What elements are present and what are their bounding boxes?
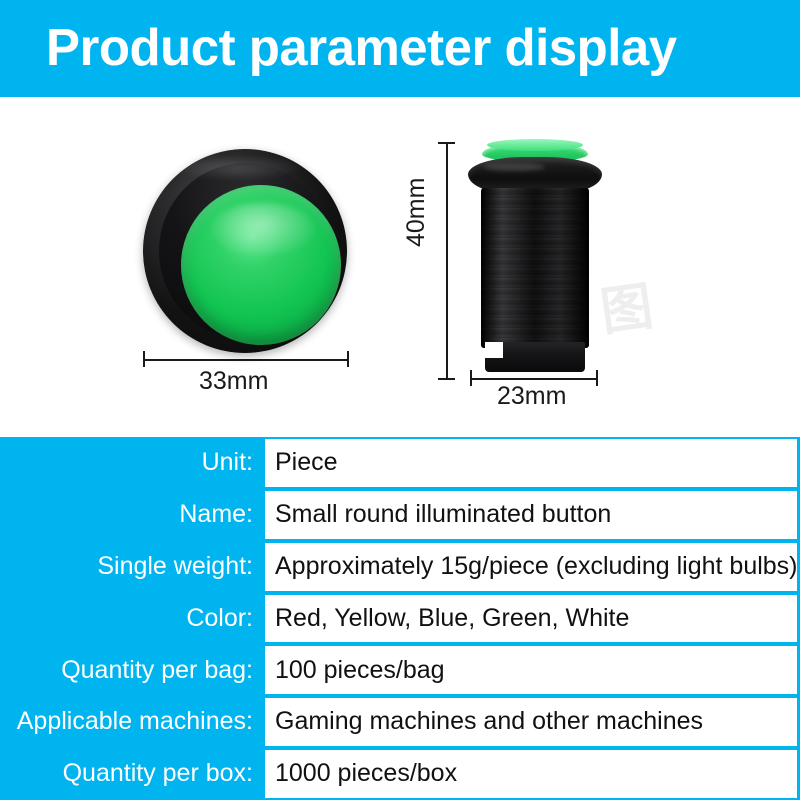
spec-label-quantity-per-box: Quantity per box: (0, 748, 265, 800)
dimension-label-40mm: 40mm (402, 178, 430, 247)
spec-value-color: Red, Yellow, Blue, Green, White (265, 595, 797, 643)
table-row: Applicable machines: Gaming machines and… (0, 696, 800, 748)
dimension-tick-left-23mm (470, 370, 472, 386)
side-view-flange-highlight (483, 163, 545, 171)
specification-table: Unit: Piece Name: Small round illuminate… (0, 437, 800, 800)
dimension-line-40mm (446, 142, 448, 378)
spec-value-quantity-per-bag: 100 pieces/bag (265, 646, 797, 694)
side-view-base-notch (485, 342, 503, 358)
dimension-tick-bottom-40mm (438, 378, 455, 380)
spec-value-quantity-per-box: 1000 pieces/box (265, 750, 797, 798)
spec-value-unit: Piece (265, 439, 797, 487)
table-row: Name: Small round illuminated button (0, 489, 800, 541)
button-bezel-inner (159, 163, 331, 339)
dimension-tick-top-40mm (438, 142, 455, 144)
dimension-line-33mm (143, 359, 349, 361)
spec-value-single-weight: Approximately 15g/piece (excluding light… (265, 543, 797, 591)
table-row: Quantity per bag: 100 pieces/bag (0, 644, 800, 696)
side-view-cap-top (487, 139, 583, 151)
product-photo-front-view (143, 149, 347, 353)
dimension-line-23mm (470, 378, 598, 380)
table-row: Quantity per box: 1000 pieces/box (0, 748, 800, 800)
lens-gloss-highlight (211, 203, 315, 255)
spec-label-color: Color: (0, 593, 265, 645)
bezel-highlight (171, 155, 303, 181)
header-banner: Product parameter display (0, 0, 800, 97)
table-row: Single weight: Approximately 15g/piece (… (0, 541, 800, 593)
side-view-body-shading (481, 188, 589, 348)
dimension-tick-left-33mm (143, 351, 145, 367)
spec-label-name: Name: (0, 489, 265, 541)
dimension-tick-right-23mm (596, 370, 598, 386)
spec-value-name: Small round illuminated button (265, 491, 797, 539)
button-lens-green (181, 185, 341, 345)
table-row: Color: Red, Yellow, Blue, Green, White (0, 593, 800, 645)
spec-label-applicable-machines: Applicable machines: (0, 696, 265, 748)
spec-label-quantity-per-bag: Quantity per bag: (0, 644, 265, 696)
product-image-panel: 图 图 33mm 40mm 23mm (0, 97, 800, 437)
table-row: Unit: Piece (0, 437, 800, 489)
dimension-tick-right-33mm (347, 351, 349, 367)
dimension-label-23mm: 23mm (497, 382, 566, 410)
spec-value-applicable-machines: Gaming machines and other machines (265, 698, 797, 746)
dimension-label-33mm: 33mm (199, 367, 268, 395)
product-photo-side-view (465, 142, 605, 387)
spec-label-unit: Unit: (0, 437, 265, 489)
spec-label-single-weight: Single weight: (0, 541, 265, 593)
page-title: Product parameter display (46, 17, 677, 79)
